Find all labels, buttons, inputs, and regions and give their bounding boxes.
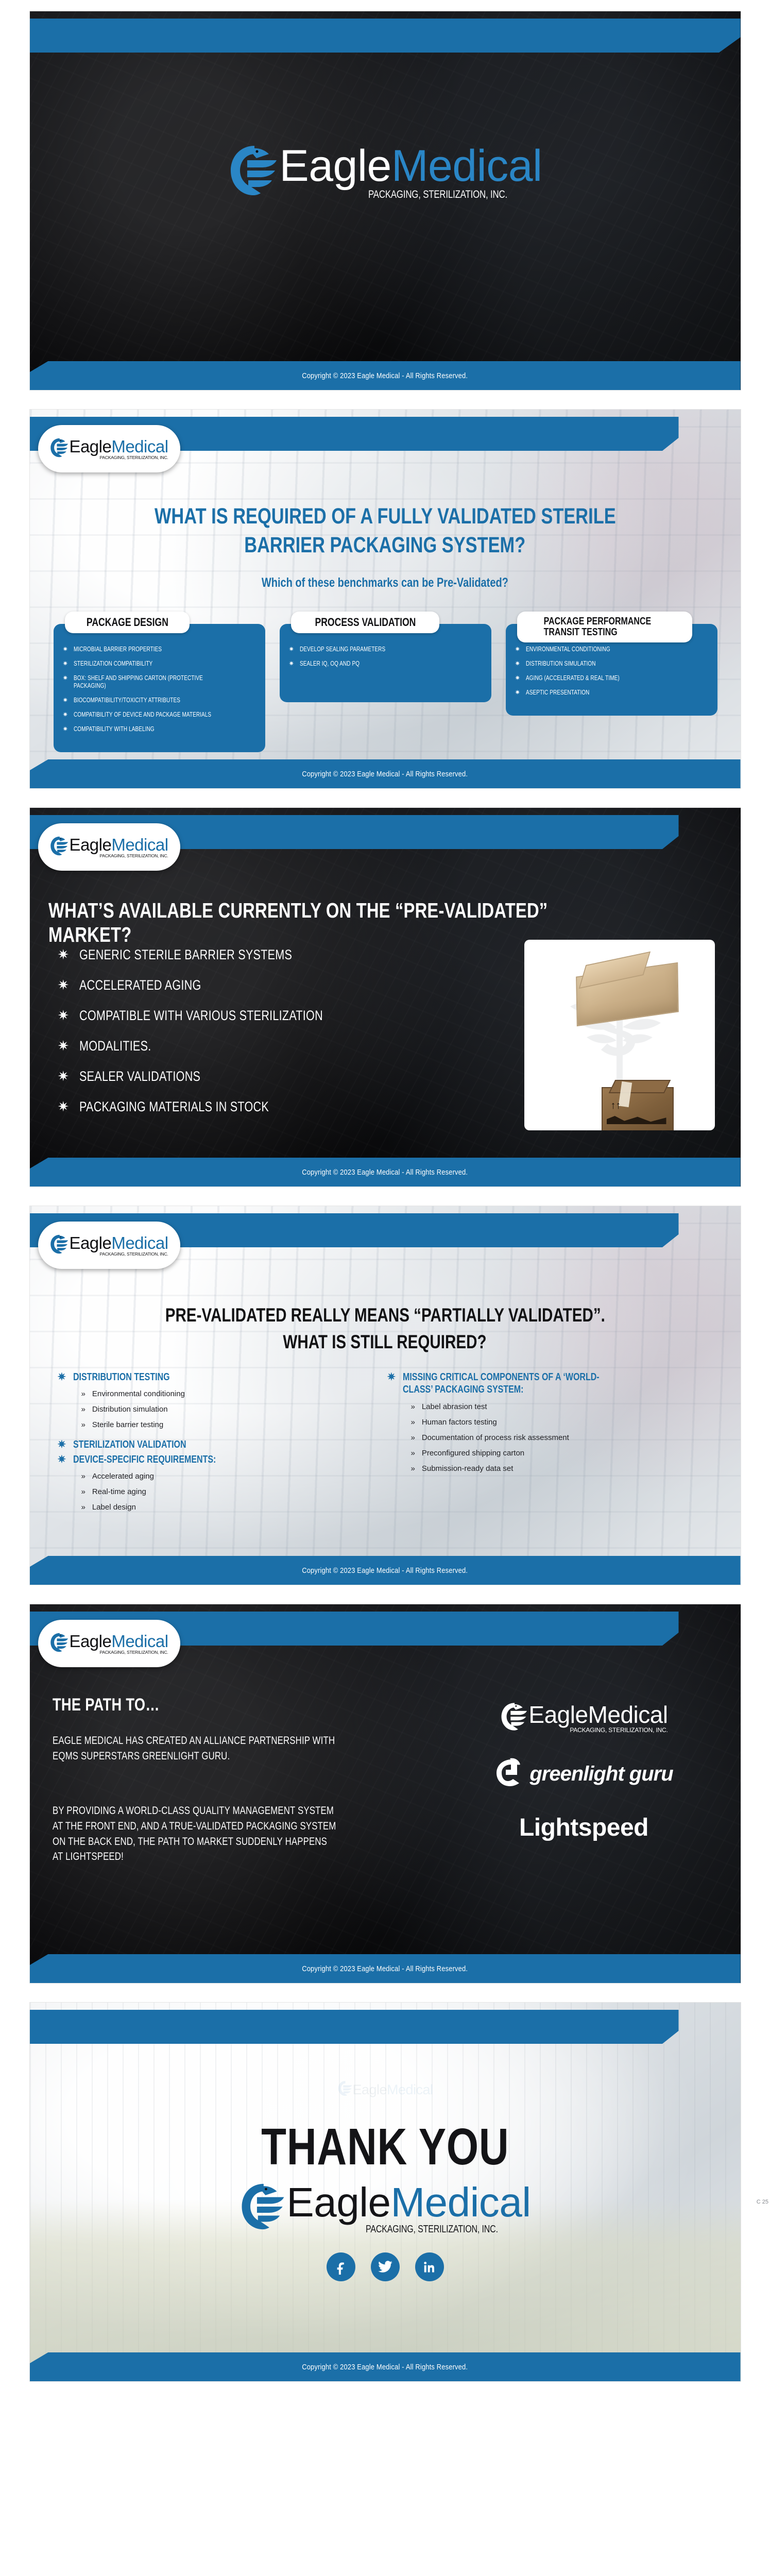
list-item: ✷AGING (ACCELERATED & REAL TIME) — [515, 674, 708, 682]
card-heading: PROCESS VALIDATION — [291, 612, 440, 633]
chevron-right-icon: » — [81, 1389, 85, 1398]
eagle-medical-logo-lockup: EagleMedical PACKAGING, STERILIZATION, I… — [228, 143, 542, 201]
slide-partially-validated: EagleMedical PACKAGING, STERILIZATION, I… — [30, 1206, 741, 1585]
logo-word-eagle: Eagle — [69, 835, 111, 854]
slide-footer: Copyright © 2023 Eagle Medical - All Rig… — [30, 1158, 741, 1187]
footer-copyright: Copyright © 2023 Eagle Medical - All Rig… — [302, 770, 468, 778]
chevron-right-icon: » — [411, 1418, 415, 1427]
list-item: ✷MODALITIES. — [58, 1038, 387, 1054]
star-bullet-icon: ✷ — [63, 660, 69, 668]
sub-list: »Environmental conditioning »Distributio… — [81, 1389, 367, 1429]
star-bullet-icon: ✷ — [58, 1038, 70, 1054]
list-item: »Label design — [81, 1503, 367, 1512]
eagle-medical-logo-lockup: EagleMedical PACKAGING, STERILIZATION, I… — [49, 835, 168, 859]
title-line-2: BARRIER PACKAGING SYSTEM? — [245, 531, 526, 560]
corner-logo-pill: EagleMedical PACKAGING, STERILIZATION, I… — [38, 1222, 180, 1269]
greenlight-guru-g-icon — [494, 1757, 521, 1791]
logo-tagline: PACKAGING, STERILIZATION, INC. — [100, 1251, 168, 1257]
paragraph-1: EAGLE MEDICAL HAS CREATED AN ALLIANCE PA… — [53, 1733, 408, 1764]
benchmark-cards: PACKAGE DESIGN ✷MICROBIAL BARRIER PROPER… — [54, 612, 718, 752]
thank-you-content: THANK YOU EagleMedical — [30, 2003, 741, 2381]
list-item: ✷BOX: SHELF AND SHIPPING CARTON (PROTECT… — [63, 674, 256, 690]
eagle-bird-icon — [239, 2181, 286, 2235]
slide-footer: Copyright © 2023 Eagle Medical - All Rig… — [30, 361, 741, 390]
logo-wordmark: EagleMedical PACKAGING, STERILIZATION, I… — [286, 2182, 531, 2234]
footer-copyright: Copyright © 2023 Eagle Medical - All Rig… — [302, 1168, 468, 1177]
group-heading: ✷ DEVICE-SPECIFIC REQUIREMENTS: — [58, 1453, 367, 1466]
footer-copyright: Copyright © 2023 Eagle Medical - All Rig… — [302, 2363, 468, 2371]
star-bullet-icon: ✷ — [58, 1371, 66, 1383]
logo-word-medical: Medical — [391, 141, 542, 191]
logo-wordmark: EagleMedical PACKAGING, STERILIZATION, I… — [528, 1703, 668, 1733]
list-item: ✷SEALER VALIDATIONS — [58, 1069, 387, 1084]
eagle-medical-logo-lockup: EagleMedical PACKAGING, STERILIZATION, I… — [500, 1701, 668, 1735]
star-bullet-icon: ✷ — [58, 947, 70, 963]
linkedin-icon[interactable] — [415, 2252, 444, 2281]
star-bullet-icon: ✷ — [58, 1069, 70, 1084]
damaged-box-bottom: ↑↑ — [602, 1087, 674, 1130]
sub-list: »Label abrasion test »Human factors test… — [411, 1402, 696, 1473]
chevron-right-icon: » — [411, 1402, 415, 1411]
star-bullet-icon: ✷ — [63, 646, 69, 653]
star-bullet-icon: ✷ — [58, 1099, 70, 1115]
title-line-1: PRE-VALIDATED REALLY MEANS “PARTIALLY VA… — [165, 1302, 605, 1329]
social-links — [327, 2252, 444, 2281]
chevron-right-icon: » — [81, 1472, 85, 1481]
star-bullet-icon: ✷ — [58, 1008, 70, 1024]
footer-copyright: Copyright © 2023 Eagle Medical - All Rig… — [302, 371, 468, 380]
star-bullet-icon: ✷ — [58, 1438, 66, 1451]
card-package-performance: PACKAGE PERFORMANCE TRANSIT TESTING ✷ENV… — [506, 612, 717, 716]
logo-word-eagle: Eagle — [528, 1701, 588, 1728]
footer-copyright: Copyright © 2023 Eagle Medical - All Rig… — [302, 1566, 468, 1575]
logo-tagline: PACKAGING, STERILIZATION, INC. — [100, 853, 168, 858]
logo-word-medical: Medical — [111, 835, 168, 854]
list-item: »Sterile barrier testing — [81, 1420, 367, 1429]
corner-logo-pill: EagleMedical PACKAGING, STERILIZATION, I… — [38, 823, 180, 871]
title-line-2: WHAT IS STILL REQUIRED? — [283, 1329, 487, 1355]
group-heading: ✷ DISTRIBUTION TESTING — [58, 1371, 367, 1383]
top-blue-banner — [30, 19, 741, 53]
slide-footer: Copyright © 2023 Eagle Medical - All Rig… — [30, 2352, 741, 2381]
group-heading: ✷ STERILIZATION VALIDATION — [58, 1438, 367, 1451]
logo-word-eagle: Eagle — [286, 2179, 390, 2225]
logo-word-eagle: Eagle — [279, 141, 391, 191]
list-item: »Accelerated aging — [81, 1472, 367, 1481]
eagle-bird-icon — [49, 835, 69, 859]
slide-thank-you: EagleMedical THANK YOU — [30, 2003, 741, 2381]
list-item: »Distribution simulation — [81, 1405, 367, 1414]
logo-word-eagle: Eagle — [69, 1632, 111, 1651]
chevron-right-icon: » — [81, 1487, 85, 1496]
list-item: ✷DEVELOP SEALING PARAMETERS — [289, 646, 482, 653]
chevron-right-icon: » — [411, 1433, 415, 1442]
eagle-medical-logo-lockup: EagleMedical PACKAGING, STERILIZATION, I… — [49, 437, 168, 461]
requirements-columns: ✷ DISTRIBUTION TESTING »Environmental co… — [58, 1371, 717, 1521]
logo-word-medical: Medical — [588, 1701, 668, 1728]
star-bullet-icon: ✷ — [289, 660, 295, 668]
corner-logo-pill: EagleMedical PACKAGING, STERILIZATION, I… — [38, 1620, 180, 1667]
logo-word-eagle: Eagle — [69, 1233, 111, 1252]
slide-path-to: EagleMedical PACKAGING, STERILIZATION, I… — [30, 1604, 741, 1983]
logo-tagline: PACKAGING, STERILIZATION, INC. — [368, 189, 507, 200]
this-side-up-arrows-icon: ↑↑ — [611, 1101, 621, 1110]
slide-footer: Copyright © 2023 Eagle Medical - All Rig… — [30, 1954, 741, 1983]
logo-word-medical: Medical — [390, 2179, 531, 2225]
eagle-medical-logo-lockup: EagleMedical PACKAGING, STERILIZATION, I… — [239, 2181, 531, 2235]
list-item: ✷ASEPTIC PRESENTATION — [515, 689, 708, 697]
eagle-bird-icon — [49, 1233, 69, 1258]
list-item: ✷STERILIZATION COMPATIBILITY — [63, 660, 256, 668]
star-bullet-icon: ✷ — [387, 1371, 396, 1383]
list-item: »Real-time aging — [81, 1487, 367, 1496]
list-item: »Label abrasion test — [411, 1402, 696, 1411]
logo-word-medical: Medical — [111, 1632, 168, 1651]
list-item: »Environmental conditioning — [81, 1389, 367, 1398]
list-item: ✷COMPATIBILITY OF DEVICE AND PACKAGE MAT… — [63, 711, 256, 719]
star-bullet-icon: ✷ — [289, 646, 295, 653]
list-item: ✷GENERIC STERILE BARRIER SYSTEMS — [58, 947, 387, 963]
list-item: ✷SEALER IQ, OQ AND PQ — [289, 660, 482, 668]
paragraph-2: BY PROVIDING A WORLD-CLASS QUALITY MANAG… — [53, 1803, 408, 1865]
greenlight-guru-logo: greenlight guru — [494, 1757, 673, 1791]
slide-title: PRE-VALIDATED REALLY MEANS “PARTIALLY VA… — [30, 1302, 741, 1355]
card-body: ✷DEVELOP SEALING PARAMETERS ✷SEALER IQ, … — [280, 624, 491, 702]
card-process-validation: PROCESS VALIDATION ✷DEVELOP SEALING PARA… — [280, 612, 491, 702]
card-package-design: PACKAGE DESIGN ✷MICROBIAL BARRIER PROPER… — [54, 612, 265, 752]
slide-title: EagleMedical PACKAGING, STERILIZATION, I… — [30, 11, 741, 390]
title-line-1: WHAT IS REQUIRED OF A FULLY VALIDATED ST… — [155, 502, 616, 531]
corner-logo-pill: EagleMedical PACKAGING, STERILIZATION, I… — [38, 425, 180, 472]
star-bullet-icon: ✷ — [58, 977, 70, 993]
card-heading: PACKAGE PERFORMANCE TRANSIT TESTING — [517, 612, 692, 642]
star-bullet-icon: ✷ — [63, 674, 69, 682]
star-bullet-icon: ✷ — [515, 689, 521, 697]
list-item: ✷PACKAGING MATERIALS IN STOCK — [58, 1099, 387, 1115]
logo-wordmark: EagleMedical PACKAGING, STERILIZATION, I… — [69, 1234, 168, 1257]
list-item: »Human factors testing — [411, 1418, 696, 1427]
logo-word-medical: Medical — [111, 1233, 168, 1252]
market-bullet-list: ✷GENERIC STERILE BARRIER SYSTEMS ✷ACCELE… — [58, 947, 387, 1129]
lightspeed-logo-wordmark: Lightspeed — [519, 1814, 648, 1842]
partner-logos: EagleMedical PACKAGING, STERILIZATION, I… — [450, 1701, 718, 1842]
chevron-right-icon: » — [81, 1420, 85, 1429]
card-bullet-list: ✷ENVIRONMENTAL CONDITIONING ✷DISTRIBUTIO… — [515, 646, 708, 697]
greenlight-guru-wordmark: greenlight guru — [529, 1762, 673, 1786]
list-item: »Submission-ready data set — [411, 1464, 696, 1473]
logo-tagline: PACKAGING, STERILIZATION, INC. — [570, 1726, 668, 1734]
logo-word-eagle: Eagle — [69, 437, 111, 456]
eagle-bird-icon — [49, 437, 69, 461]
list-item: ✷ACCELERATED AGING — [58, 977, 387, 993]
eagle-bird-icon — [228, 143, 279, 201]
slide-subtitle: Which of these benchmarks can be Pre-Val… — [30, 575, 741, 590]
chevron-right-icon: » — [411, 1449, 415, 1458]
card-bullet-list: ✷MICROBIAL BARRIER PROPERTIES ✷STERILIZA… — [63, 646, 256, 733]
logo-wordmark: EagleMedical PACKAGING, STERILIZATION, I… — [69, 836, 168, 858]
slide-market: EagleMedical PACKAGING, STERILIZATION, I… — [30, 808, 741, 1187]
logo-tagline: PACKAGING, STERILIZATION, INC. — [100, 1650, 168, 1655]
card-bullet-list: ✷DEVELOP SEALING PARAMETERS ✷SEALER IQ, … — [289, 646, 482, 668]
star-bullet-icon: ✷ — [515, 660, 521, 668]
right-column: ✷ MISSING CRITICAL COMPONENTS OF A ‘WORL… — [387, 1371, 696, 1521]
logo-wordmark: EagleMedical PACKAGING, STERILIZATION, I… — [69, 438, 168, 460]
card-body: ✷MICROBIAL BARRIER PROPERTIES ✷STERILIZA… — [54, 624, 265, 752]
eagle-medical-logo-lockup: EagleMedical PACKAGING, STERILIZATION, I… — [49, 1233, 168, 1258]
twitter-icon[interactable] — [371, 2252, 400, 2281]
facebook-icon[interactable] — [327, 2252, 355, 2281]
list-item: »Documentation of process risk assessmen… — [411, 1433, 696, 1442]
star-bullet-icon: ✷ — [58, 1453, 66, 1466]
slide-title: THE PATH TO… — [53, 1695, 186, 1715]
list-item: ✷COMPATIBILITY WITH LABELING — [63, 725, 256, 733]
eagle-medical-logo-lockup: EagleMedical PACKAGING, STERILIZATION, I… — [49, 1632, 168, 1656]
logo-word-medical: Medical — [111, 437, 168, 456]
slide-footer: Copyright © 2023 Eagle Medical - All Rig… — [30, 1556, 741, 1585]
eagle-bird-icon — [500, 1701, 528, 1735]
star-bullet-icon: ✷ — [515, 674, 521, 682]
list-item: ✷COMPATIBLE WITH VARIOUS STERILIZATION — [58, 1008, 387, 1024]
list-item: ✷ENVIRONMENTAL CONDITIONING — [515, 646, 708, 653]
star-bullet-icon: ✷ — [63, 697, 69, 704]
footer-copyright: Copyright © 2023 Eagle Medical - All Rig… — [302, 1964, 468, 1973]
chevron-right-icon: » — [81, 1405, 85, 1414]
left-column: ✷ DISTRIBUTION TESTING »Environmental co… — [58, 1371, 367, 1521]
chevron-right-icon: » — [411, 1464, 415, 1473]
star-bullet-icon: ✷ — [63, 725, 69, 733]
star-bullet-icon: ✷ — [515, 646, 521, 653]
eagle-bird-icon — [49, 1632, 69, 1656]
thank-you-heading: THANK YOU — [230, 2121, 540, 2173]
page-marker: C 25 — [757, 2199, 768, 2205]
logo-wordmark: EagleMedical PACKAGING, STERILIZATION, I… — [279, 144, 542, 200]
logo-wordmark: EagleMedical PACKAGING, STERILIZATION, I… — [69, 1633, 168, 1655]
logo-tagline: PACKAGING, STERILIZATION, INC. — [100, 455, 168, 460]
star-bullet-icon: ✷ — [63, 711, 69, 719]
list-item: ✷MICROBIAL BARRIER PROPERTIES — [63, 646, 256, 653]
slide-requirements: EagleMedical PACKAGING, STERILIZATION, I… — [30, 410, 741, 788]
list-item: ✷BIOCOMPATIBILITY/TOXICITY ATTRIBUTES — [63, 697, 256, 704]
sub-list: »Accelerated aging »Real-time aging »Lab… — [81, 1472, 367, 1512]
hero-logo: EagleMedical PACKAGING, STERILIZATION, I… — [30, 143, 741, 201]
group-heading: ✷ MISSING CRITICAL COMPONENTS OF A ‘WORL… — [387, 1371, 696, 1396]
list-item: ✷DISTRIBUTION SIMULATION — [515, 660, 708, 668]
slide-footer: Copyright © 2023 Eagle Medical - All Rig… — [30, 759, 741, 788]
chevron-right-icon: » — [81, 1503, 85, 1512]
logo-tagline: PACKAGING, STERILIZATION, INC. — [366, 2224, 498, 2234]
slide-deck: EagleMedical PACKAGING, STERILIZATION, I… — [0, 0, 770, 2381]
card-heading: PACKAGE DESIGN — [65, 612, 190, 633]
list-item: »Preconfigured shipping carton — [411, 1449, 696, 1458]
damaged-boxes-image: ↑↑ — [524, 940, 715, 1130]
slide-title: WHAT IS REQUIRED OF A FULLY VALIDATED ST… — [30, 502, 741, 560]
